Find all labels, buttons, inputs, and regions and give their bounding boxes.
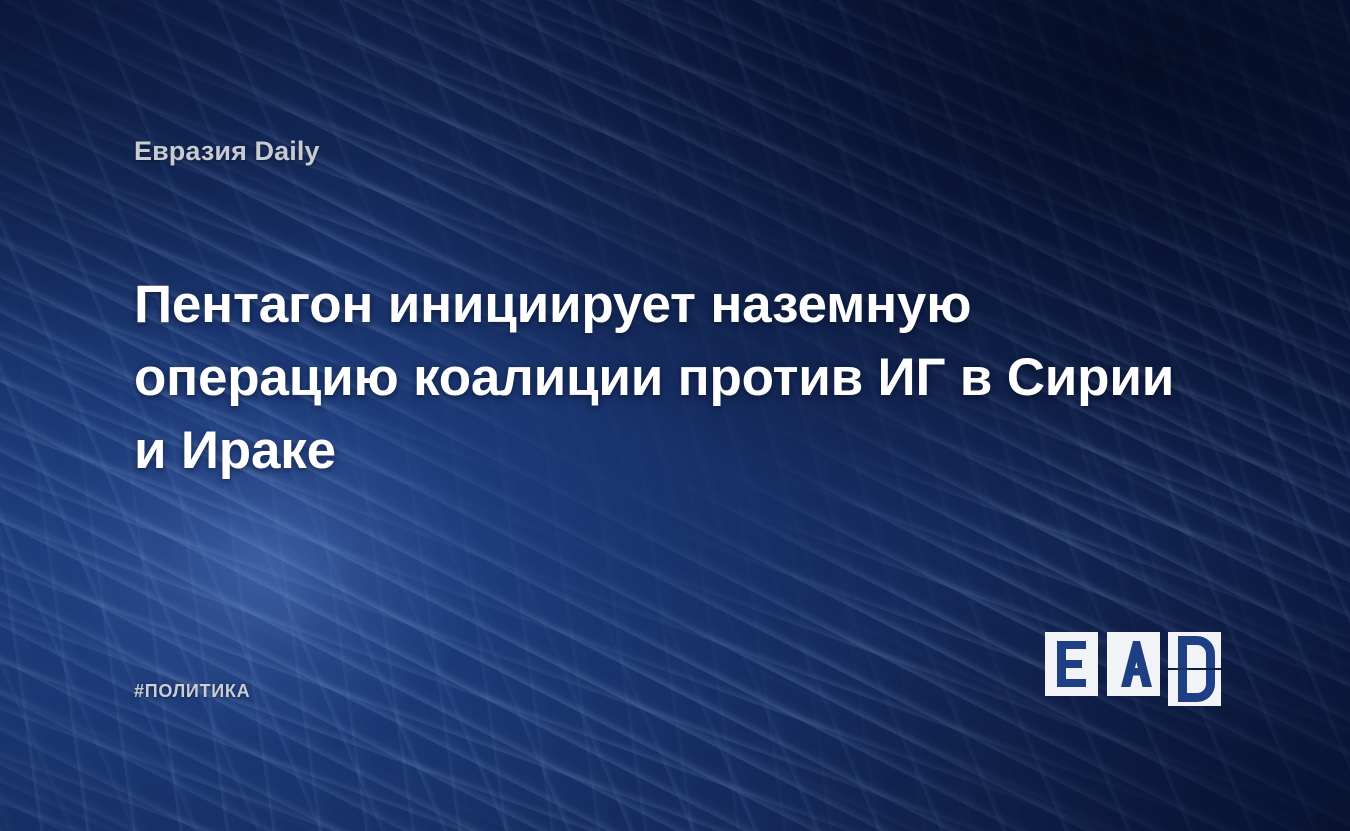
logo-letter-a-shape xyxy=(1121,641,1152,687)
category-tag[interactable]: #ПОЛИТИКА xyxy=(134,681,250,702)
site-logo-text[interactable]: Евразия Daily xyxy=(134,136,320,167)
logo-letter-d-lower-shape xyxy=(1178,670,1215,702)
ead-letterforms xyxy=(1045,632,1221,706)
article-headline: Пентагон инициирует наземную операцию ко… xyxy=(134,268,1204,487)
cover-content: Евразия Daily Пентагон инициирует наземн… xyxy=(0,0,1350,831)
logo-letter-e-shape xyxy=(1057,641,1086,687)
logo-letter-d-upper-shape xyxy=(1178,636,1215,668)
news-cover-card: Евразия Daily Пентагон инициирует наземн… xyxy=(0,0,1350,831)
ead-logo-mark[interactable] xyxy=(1045,632,1221,706)
